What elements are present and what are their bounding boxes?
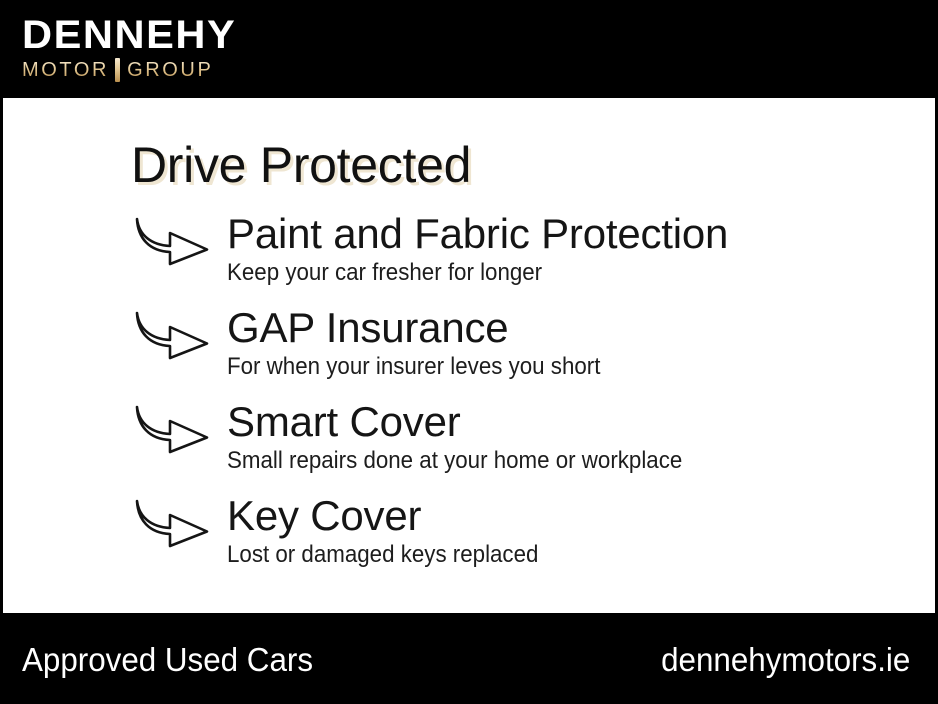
- footer-tagline: Approved Used Cars: [22, 641, 313, 679]
- curved-arrow-right-icon: [134, 498, 216, 548]
- list-item: Key Cover Lost or damaged keys replaced: [3, 492, 935, 586]
- content-panel: Drive Protected Paint and Fabric Protect…: [3, 98, 935, 613]
- feature-subtitle: Keep your car fresher for longer: [227, 259, 878, 287]
- feature-heading: Smart Cover: [227, 398, 927, 446]
- feature-list: Paint and Fabric Protection Keep your ca…: [3, 210, 935, 586]
- curved-arrow-right-icon: [134, 404, 216, 454]
- feature-subtitle: For when your insurer leves you short: [227, 353, 878, 381]
- curved-arrow-right-icon: [134, 216, 216, 266]
- page-title: Drive Protected: [131, 136, 471, 194]
- footer-bar: Approved Used Cars dennehymotors.ie: [0, 613, 938, 704]
- brand-wordmark: DENNEHY: [22, 14, 261, 56]
- list-item-text: Smart Cover Small repairs done at your h…: [227, 398, 927, 475]
- header-bar: DENNEHY MOTOR GROUP: [0, 0, 938, 98]
- feature-subtitle: Small repairs done at your home or workp…: [227, 447, 878, 475]
- feature-heading: Key Cover: [227, 492, 927, 540]
- list-item-text: GAP Insurance For when your insurer leve…: [227, 304, 927, 381]
- feature-heading: Paint and Fabric Protection: [227, 210, 927, 258]
- brand-subtitle-motor: MOTOR: [22, 59, 109, 81]
- list-item: GAP Insurance For when your insurer leve…: [3, 304, 935, 398]
- list-item: Smart Cover Small repairs done at your h…: [3, 398, 935, 492]
- brand-subtitle: MOTOR GROUP: [22, 58, 252, 82]
- brand-logo[interactable]: DENNEHY MOTOR GROUP: [22, 14, 252, 82]
- list-item-text: Key Cover Lost or damaged keys replaced: [227, 492, 927, 569]
- feature-subtitle: Lost or damaged keys replaced: [227, 541, 878, 569]
- list-item-text: Paint and Fabric Protection Keep your ca…: [227, 210, 927, 287]
- brand-subtitle-group: GROUP: [127, 59, 213, 81]
- advertisement-banner: DENNEHY MOTOR GROUP Drive Protected Pain…: [0, 0, 938, 704]
- brand-divider-icon: [115, 58, 120, 82]
- footer-website-link[interactable]: dennehymotors.ie: [661, 641, 910, 679]
- list-item: Paint and Fabric Protection Keep your ca…: [3, 210, 935, 304]
- feature-heading: GAP Insurance: [227, 304, 927, 352]
- curved-arrow-right-icon: [134, 310, 216, 360]
